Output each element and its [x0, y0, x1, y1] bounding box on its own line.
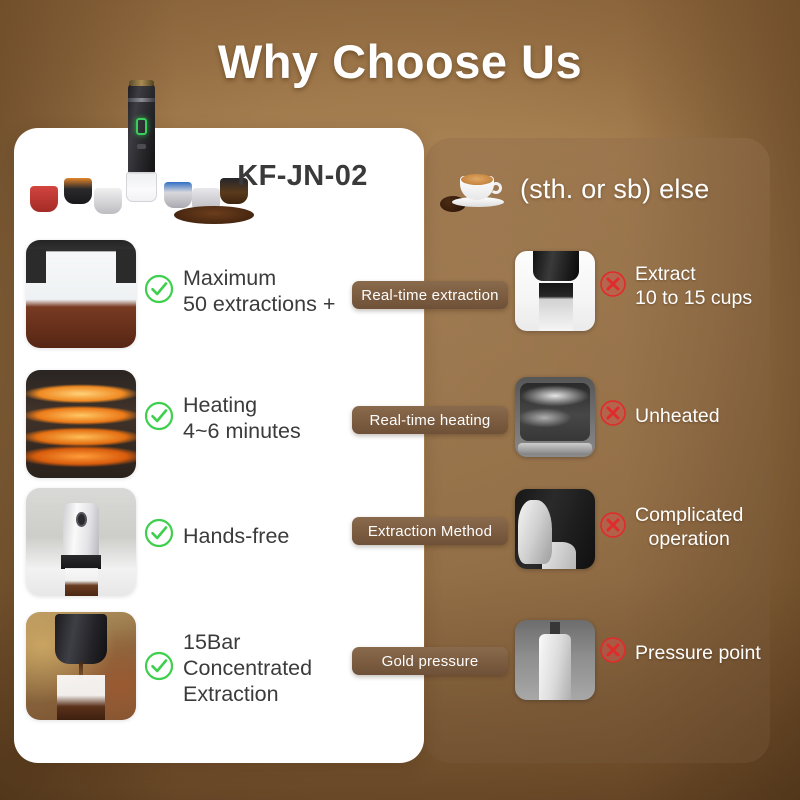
check-circle-icon [144, 651, 174, 686]
machine-cup [126, 172, 157, 202]
comparison-row: Maximum 50 extractions + Real-time extra… [0, 240, 800, 360]
cross-circle-icon [600, 400, 626, 431]
competitor-thumbnail-hand [515, 489, 595, 569]
competitor-item-heating: Unheated [600, 400, 790, 431]
competitor-thumbnail-bottle [515, 620, 595, 700]
competitor-item-operation: Complicated operation [600, 503, 790, 551]
comparison-row: 15Bar Concentrated Extraction Gold press… [0, 612, 800, 732]
feature-thumbnail-extraction [26, 240, 136, 348]
feature-label: Heating 4~6 minutes [183, 392, 301, 444]
feature-thumbnail-concentrated [26, 612, 136, 720]
competitor-header-label: (sth. or sb) else [520, 174, 709, 205]
competitor-item-extraction: Extract 10 to 15 cups [600, 262, 790, 310]
feature-label: Hands-free [183, 523, 289, 549]
comparison-category-label: Gold pressure [352, 647, 508, 675]
cross-circle-icon [600, 512, 626, 543]
competitor-label: Extract 10 to 15 cups [635, 262, 752, 310]
capsule-orange [64, 178, 92, 204]
feature-label: 15Bar Concentrated Extraction [183, 629, 312, 707]
coffee-grounds [174, 206, 254, 224]
coffee-cup-icon [440, 163, 514, 215]
comparison-row: Heating 4~6 minutes Real-time heating Un… [0, 370, 800, 490]
product-hero-image [24, 82, 264, 222]
competitor-label: Pressure point [635, 641, 761, 665]
competitor-header: (sth. or sb) else [440, 163, 770, 215]
capsule-blue [164, 182, 192, 208]
page-title: Why Choose Us [0, 34, 800, 89]
machine-ring [128, 98, 155, 102]
check-circle-icon [144, 274, 174, 309]
competitor-thumbnail-unheated [515, 377, 595, 457]
cross-circle-icon [600, 637, 626, 668]
competitor-label: Complicated operation [635, 503, 743, 551]
product-name: KF-JN-02 [190, 160, 415, 193]
competitor-thumbnail-press [515, 251, 595, 331]
check-circle-icon [144, 518, 174, 553]
competitor-label: Unheated [635, 404, 720, 428]
competitor-item-pressure: Pressure point [600, 637, 790, 668]
feature-thumbnail-heating [26, 370, 136, 478]
feature-label: Maximum 50 extractions + [183, 265, 335, 317]
comparison-category-label: Real-time extraction [352, 281, 508, 309]
feature-thumbnail-handsfree [26, 488, 136, 596]
check-circle-icon [144, 401, 174, 436]
machine-power-led [136, 118, 147, 135]
comparison-category-label: Extraction Method [352, 517, 508, 545]
cross-circle-icon [600, 271, 626, 302]
machine-button [137, 144, 146, 149]
capsule-red [30, 186, 58, 212]
capsule-white [94, 188, 122, 214]
comparison-category-label: Real-time heating [352, 406, 508, 434]
comparison-row: Hands-free Extraction Method Complicated… [0, 488, 800, 608]
